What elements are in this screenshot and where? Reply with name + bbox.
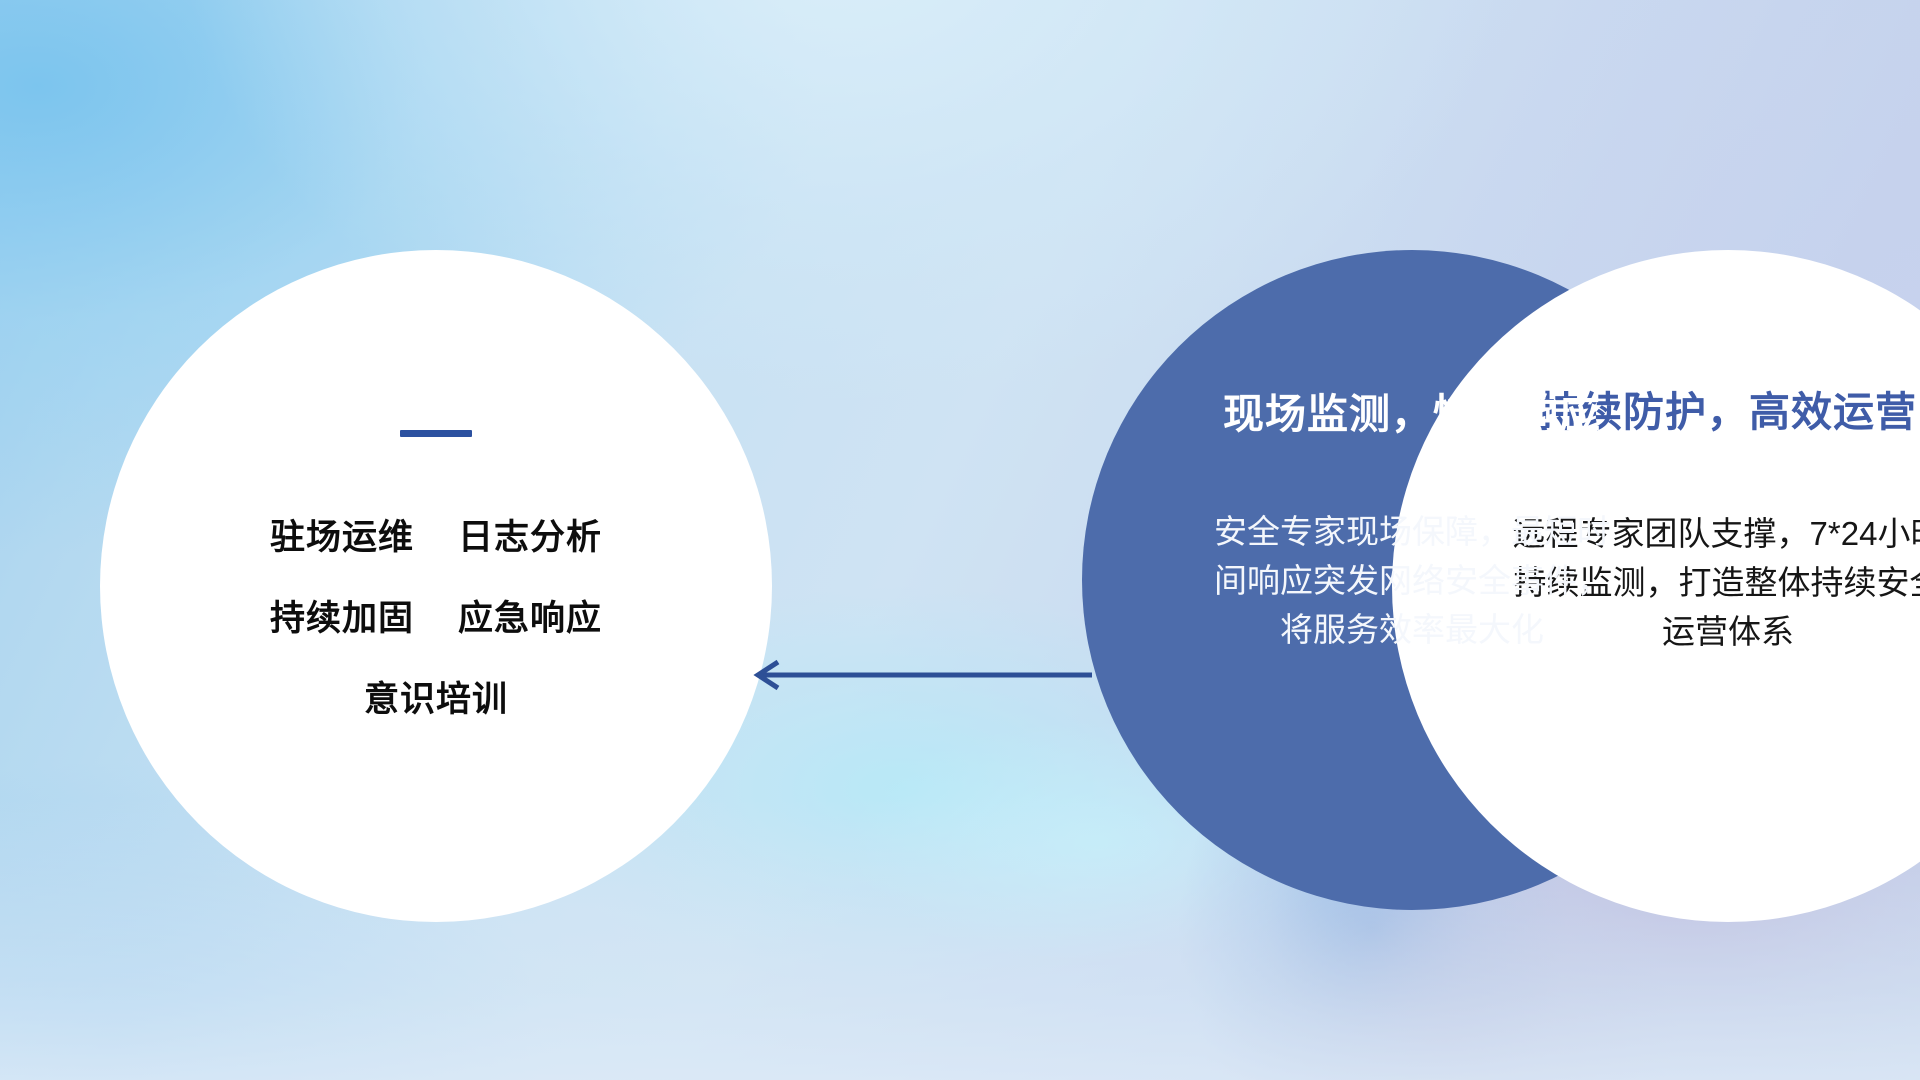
continuous-protection-title: 持续防护，高效运营 [1539,378,1917,438]
capability-item: 应急响应 [458,590,602,641]
connector-arrow [744,655,1094,695]
arrow-left-icon [744,655,1094,695]
capability-circle: 驻场运维 日志分析 持续加固 应急响应 意识培训 [100,250,772,922]
continuous-protection-circle: 持续防护，高效运营 远程专家团队支撑，7*24小时持续监测，打造整体持续安全运营… [1392,250,1920,922]
capability-item: 驻场运维 [270,509,414,560]
capability-item: 日志分析 [458,509,602,560]
capability-row: 持续加固 应急响应 [270,590,602,641]
horizontal-dash-icon [400,430,472,437]
capability-list: 驻场运维 日志分析 持续加固 应急响应 意识培训 [270,509,602,722]
capability-item: 意识培训 [364,671,508,722]
capability-row: 驻场运维 日志分析 [270,509,602,560]
capability-row: 意识培训 [364,671,508,722]
continuous-protection-body: 远程专家团队支撑，7*24小时持续监测，打造整体持续安全运营体系 [1503,510,1920,656]
capability-item: 持续加固 [270,590,414,641]
